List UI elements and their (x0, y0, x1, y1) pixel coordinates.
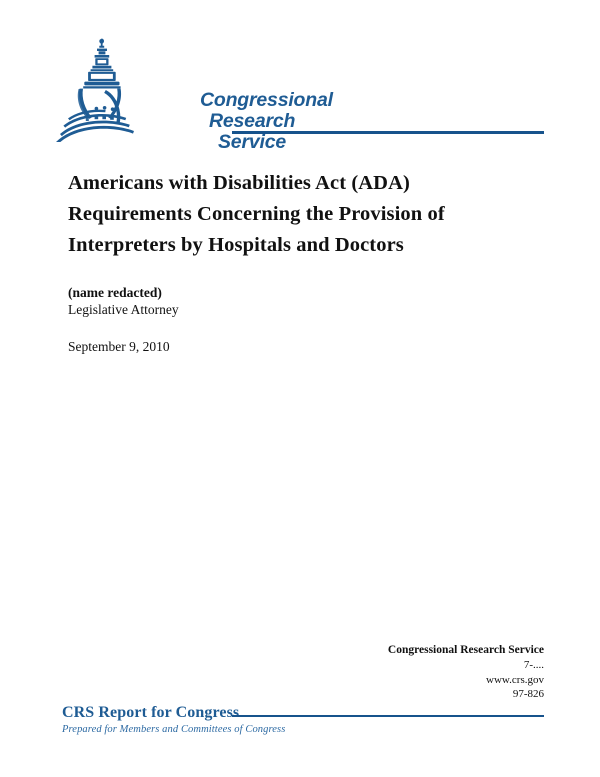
document-page: Congressional Research Service Americans… (0, 0, 600, 777)
footer: CRS Report for Congress Prepared for Mem… (62, 703, 544, 723)
page-title: Americans with Disabilities Act (ADA) Re… (68, 168, 538, 261)
author-role: Legislative Attorney (68, 301, 468, 319)
capitol-dome-icon (56, 38, 164, 142)
masthead-divider (232, 131, 544, 134)
masthead: Congressional Research Service (56, 38, 546, 143)
contact-website[interactable]: www.crs.gov (284, 673, 544, 688)
contact-organization: Congressional Research Service (284, 643, 544, 658)
crs-wordmark: Congressional Research Service (200, 90, 410, 153)
contact-block: Congressional Research Service 7-.... ww… (284, 643, 544, 702)
document-title-line-2: Requirements Concerning the Provision of (68, 203, 445, 225)
publication-date: September 9, 2010 (68, 338, 170, 356)
document-title-line-1: Americans with Disabilities Act (ADA) (68, 172, 410, 194)
footer-divider (232, 715, 544, 717)
report-number: 97-826 (284, 687, 544, 702)
document-title: Americans with Disabilities Act (ADA) Re… (68, 168, 538, 261)
footer-title: CRS Report for Congress (62, 703, 239, 722)
contact-phone: 7-.... (284, 658, 544, 673)
author-name: (name redacted) (68, 284, 468, 301)
document-title-line-3: Interpreters by Hospitals and Doctors (68, 234, 404, 256)
wordmark-line-research: Research (209, 111, 410, 132)
wordmark-line-congressional: Congressional (200, 90, 410, 111)
byline: (name redacted) Legislative Attorney (68, 284, 468, 319)
footer-title-row: CRS Report for Congress (62, 703, 544, 723)
footer-subtitle: Prepared for Members and Committees of C… (62, 723, 285, 737)
wordmark-line-service: Service (218, 132, 410, 153)
